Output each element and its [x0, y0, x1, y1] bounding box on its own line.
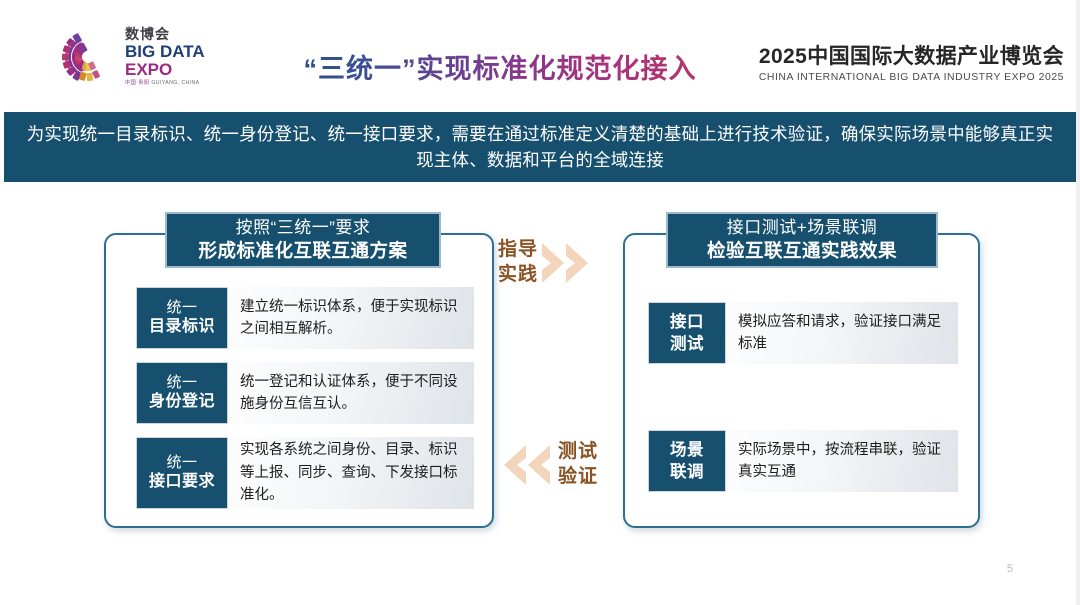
left-row-2-tag-line1: 统一: [166, 373, 197, 393]
right-row-1-tag-line2: 测试: [670, 333, 704, 355]
logo-location-text: 中国·贵阳 GUIYANG, CHINA: [125, 81, 205, 86]
logo-expo-text: EXPO: [125, 61, 205, 78]
right-row-2-description: 实际场景中，按流程串联，验证真实互通: [726, 430, 958, 492]
left-row-3-tag: 统一 接口要求: [136, 437, 228, 509]
flow-top-label-line1: 指导: [498, 238, 538, 263]
summary-banner-text: 为实现统一目录标识、统一身份登记、统一接口要求，需要在通过标准定义清楚的基础上进…: [20, 121, 1060, 174]
page-title: “三统一”实现标准化规范化接入: [255, 47, 745, 86]
slide-right-edge: [1076, 0, 1080, 605]
left-row-2-description: 统一登记和认证体系，便于不同设施身份互信互认。: [228, 362, 474, 424]
flow-top-label-line2: 实践: [498, 263, 538, 288]
flow-top: 指导 实践: [498, 238, 596, 287]
left-panel-header-line1: 按照“三统一”要求: [236, 217, 371, 238]
right-row-1-description: 模拟应答和请求，验证接口满足标准: [726, 302, 958, 364]
left-row-2: 统一 身份登记 统一登记和认证体系，便于不同设施身份互信互认。: [136, 362, 474, 424]
double-chevron-right-icon: [538, 240, 596, 286]
right-row-2-tag-line1: 场景: [670, 439, 704, 461]
flow-bottom-label: 测试 验证: [558, 440, 598, 489]
logo-bigdata-text: BIG DATA: [125, 43, 205, 60]
expo-brand-cn: 2025中国国际大数据产业博览会: [759, 40, 1064, 70]
left-row-1-tag: 统一 目录标识: [136, 287, 228, 349]
left-row-3-description: 实现各系统之间身份、目录、标识等上报、同步、查询、下发接口标准化。: [228, 437, 474, 509]
right-row-1-tag-line1: 接口: [670, 311, 704, 333]
right-row-2-tag: 场景 联调: [648, 430, 726, 492]
summary-banner: 为实现统一目录标识、统一身份登记、统一接口要求，需要在通过标准定义清楚的基础上进…: [4, 112, 1076, 182]
right-panel-header-line1: 接口测试+场景联调: [727, 217, 877, 238]
slide-header: 数博会 BIG DATA EXPO 中国·贵阳 GUIYANG, CHINA “…: [0, 0, 1080, 100]
left-panel-header: 按照“三统一”要求 形成标准化互联互通方案: [165, 212, 441, 268]
right-row-2: 场景 联调 实际场景中，按流程串联，验证真实互通: [648, 430, 958, 492]
bigdata-expo-logo-icon: [57, 28, 119, 86]
left-row-1-tag-line2: 目录标识: [149, 317, 215, 338]
right-row-1: 接口 测试 模拟应答和请求，验证接口满足标准: [648, 302, 958, 364]
left-row-1: 统一 目录标识 建立统一标识体系，便于实现标识之间相互解析。: [136, 287, 474, 349]
left-panel-header-line2: 形成标准化互联互通方案: [198, 239, 407, 263]
expo-brand-en: CHINA INTERNATIONAL BIG DATA INDUSTRY EX…: [759, 72, 1064, 83]
logo-location-en: GUIYANG, CHINA: [151, 80, 199, 86]
flow-bottom-label-line2: 验证: [558, 465, 598, 490]
flow-bottom-label-line1: 测试: [558, 440, 598, 465]
expo-logo: 数博会 BIG DATA EXPO 中国·贵阳 GUIYANG, CHINA: [57, 26, 212, 88]
left-row-3: 统一 接口要求 实现各系统之间身份、目录、标识等上报、同步、查询、下发接口标准化…: [136, 437, 474, 509]
right-row-1-tag: 接口 测试: [648, 302, 726, 364]
left-row-1-tag-line1: 统一: [166, 298, 197, 318]
expo-brand: 2025中国国际大数据产业博览会 CHINA INTERNATIONAL BIG…: [759, 40, 1064, 83]
left-row-3-tag-line1: 统一: [166, 453, 197, 473]
left-row-2-tag: 统一 身份登记: [136, 362, 228, 424]
right-panel-header: 接口测试+场景联调 检验互联互通实践效果: [666, 212, 938, 268]
double-chevron-left-icon: [500, 442, 558, 488]
page-number: 5: [1007, 563, 1013, 575]
left-row-3-tag-line2: 接口要求: [149, 472, 215, 493]
right-panel-header-line2: 检验互联互通实践效果: [707, 239, 897, 263]
logo-cn-text: 数博会: [125, 27, 205, 41]
right-row-2-tag-line2: 联调: [670, 461, 704, 483]
left-row-1-description: 建立统一标识体系，便于实现标识之间相互解析。: [228, 287, 474, 349]
left-row-2-tag-line2: 身份登记: [149, 392, 215, 413]
logo-wordmark: 数博会 BIG DATA EXPO 中国·贵阳 GUIYANG, CHINA: [125, 27, 205, 86]
logo-location-cn: 中国·贵阳: [125, 80, 149, 86]
flow-bottom: 测试 验证: [500, 440, 598, 489]
flow-top-label: 指导 实践: [498, 238, 538, 287]
